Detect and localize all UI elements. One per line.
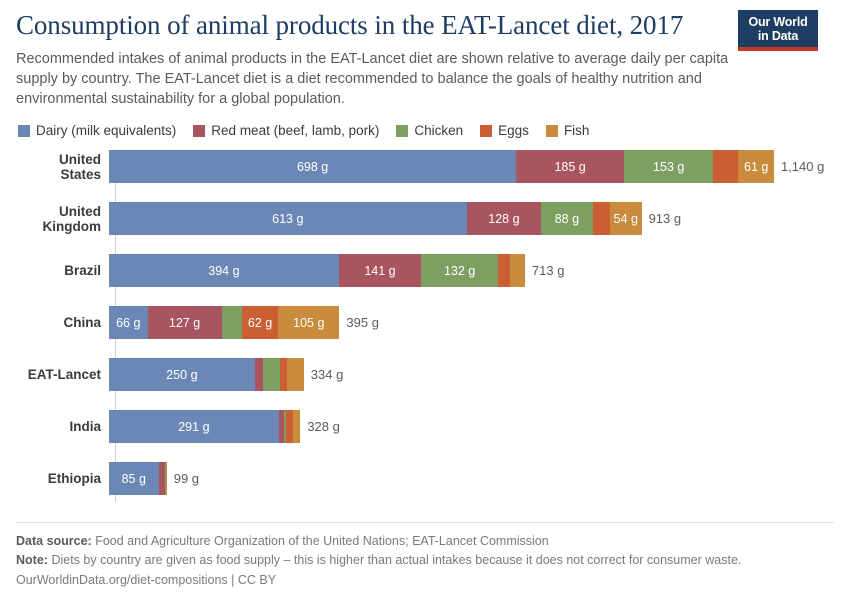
- bar-row: United Kingdom613 g128 g88 g54 g913 g: [16, 202, 834, 235]
- bar-total-value: 913 g: [649, 211, 682, 226]
- bar-segment[interactable]: 62 g: [242, 306, 278, 339]
- bar-segment[interactable]: [593, 202, 611, 235]
- category-label: United States: [16, 152, 109, 182]
- legend-swatch-icon: [193, 125, 205, 137]
- bar-segment[interactable]: 66 g: [109, 306, 148, 339]
- bar-total-value: 99 g: [174, 471, 199, 486]
- bar-segment-value: 141 g: [364, 264, 395, 278]
- bar-segment[interactable]: 394 g: [109, 254, 339, 287]
- bar-row: India291 g328 g: [16, 410, 834, 443]
- bar-row: EAT-Lancet250 g334 g: [16, 358, 834, 391]
- bar-segment[interactable]: 153 g: [624, 150, 713, 183]
- bar-segment[interactable]: 185 g: [516, 150, 624, 183]
- chart-subtitle: Recommended intakes of animal products i…: [16, 49, 834, 109]
- bar-segment[interactable]: 105 g: [278, 306, 339, 339]
- legend-label: Fish: [564, 123, 590, 138]
- category-label: United Kingdom: [16, 204, 109, 234]
- bar-segment[interactable]: 291 g: [109, 410, 279, 443]
- bar-segment[interactable]: 141 g: [339, 254, 421, 287]
- stacked-bar[interactable]: 698 g185 g153 g61 g: [109, 150, 774, 183]
- bar-row: Ethiopia85 g99 g: [16, 462, 834, 495]
- data-source-line: Data source: Food and Agriculture Organi…: [16, 532, 834, 551]
- bar-segment-value: 613 g: [272, 212, 303, 226]
- legend-item[interactable]: Red meat (beef, lamb, pork): [193, 123, 379, 138]
- bar-segment[interactable]: 132 g: [421, 254, 498, 287]
- legend-item[interactable]: Chicken: [396, 123, 463, 138]
- stacked-bar[interactable]: 250 g: [109, 358, 304, 391]
- category-label: Ethiopia: [16, 471, 109, 486]
- bar-segment-value: 66 g: [116, 316, 140, 330]
- bar-segment[interactable]: 54 g: [610, 202, 642, 235]
- bar-segment-value: 127 g: [169, 316, 200, 330]
- note-text: Diets by country are given as food suppl…: [51, 553, 741, 567]
- bar-segment[interactable]: 61 g: [738, 150, 774, 183]
- legend-swatch-icon: [396, 125, 408, 137]
- bar-segment[interactable]: 250 g: [109, 358, 255, 391]
- bar-segment-value: 62 g: [248, 316, 272, 330]
- bar-row: Brazil394 g141 g132 g713 g: [16, 254, 834, 287]
- bar-segment-value: 128 g: [488, 212, 519, 226]
- stacked-bar[interactable]: 613 g128 g88 g54 g: [109, 202, 642, 235]
- chart-plot-area: United States698 g185 g153 g61 g1,140 gU…: [16, 150, 834, 508]
- bar-segment[interactable]: [263, 358, 280, 391]
- legend-item[interactable]: Fish: [546, 123, 590, 138]
- bar-segment[interactable]: [222, 306, 242, 339]
- chart-page: Consumption of animal products in the EA…: [0, 0, 850, 600]
- legend-swatch-icon: [18, 125, 30, 137]
- legend-label: Red meat (beef, lamb, pork): [211, 123, 379, 138]
- stacked-bar[interactable]: 85 g: [109, 462, 167, 495]
- bar-segment[interactable]: 88 g: [541, 202, 592, 235]
- chart-legend: Dairy (milk equivalents)Red meat (beef, …: [16, 123, 834, 138]
- logo-line-2: in Data: [740, 29, 816, 47]
- bar-row: United States698 g185 g153 g61 g1,140 g: [16, 150, 834, 183]
- chart-footer: Data source: Food and Agriculture Organi…: [16, 522, 834, 590]
- bar-segment[interactable]: [293, 410, 301, 443]
- bar-segment[interactable]: [713, 150, 738, 183]
- bar-segment-value: 85 g: [122, 472, 146, 486]
- legend-swatch-icon: [546, 125, 558, 137]
- bar-rows: United States698 g185 g153 g61 g1,140 gU…: [16, 150, 834, 495]
- data-source-label: Data source:: [16, 534, 92, 548]
- bar-segment-value: 54 g: [614, 212, 638, 226]
- stacked-bar[interactable]: 394 g141 g132 g: [109, 254, 525, 287]
- stacked-bar[interactable]: 291 g: [109, 410, 300, 443]
- bar-segment[interactable]: [498, 254, 510, 287]
- category-label: China: [16, 315, 109, 330]
- bar-segment-value: 291 g: [178, 420, 209, 434]
- bar-segment[interactable]: [166, 462, 167, 495]
- bar-segment[interactable]: [255, 358, 263, 391]
- bar-total-value: 334 g: [311, 367, 344, 382]
- category-label: Brazil: [16, 263, 109, 278]
- our-world-in-data-logo[interactable]: Our World in Data: [738, 10, 818, 51]
- stacked-bar[interactable]: 66 g127 g62 g105 g: [109, 306, 339, 339]
- bar-total-value: 713 g: [532, 263, 565, 278]
- bar-total-value: 395 g: [346, 315, 379, 330]
- legend-label: Dairy (milk equivalents): [36, 123, 176, 138]
- logo-line-1: Our World: [740, 15, 816, 29]
- bar-total-value: 328 g: [307, 419, 340, 434]
- bar-segment-value: 185 g: [554, 160, 585, 174]
- bar-segment[interactable]: [280, 358, 288, 391]
- bar-segment-value: 394 g: [208, 264, 239, 278]
- bar-segment[interactable]: 613 g: [109, 202, 467, 235]
- bar-segment[interactable]: 698 g: [109, 150, 516, 183]
- bar-segment[interactable]: 128 g: [467, 202, 542, 235]
- bar-segment-value: 698 g: [297, 160, 328, 174]
- bar-segment-value: 61 g: [744, 160, 768, 174]
- bar-segment-value: 250 g: [166, 368, 197, 382]
- bar-segment[interactable]: [510, 254, 525, 287]
- category-label: India: [16, 419, 109, 434]
- bar-row: China66 g127 g62 g105 g395 g: [16, 306, 834, 339]
- bar-segment-value: 88 g: [555, 212, 579, 226]
- note-label: Note:: [16, 553, 48, 567]
- bar-total-value: 1,140 g: [781, 159, 824, 174]
- bar-segment[interactable]: 127 g: [148, 306, 222, 339]
- license-line[interactable]: OurWorldinData.org/diet-compositions | C…: [16, 571, 834, 590]
- legend-label: Eggs: [498, 123, 529, 138]
- chart-header: Consumption of animal products in the EA…: [16, 0, 834, 109]
- legend-swatch-icon: [480, 125, 492, 137]
- legend-item[interactable]: Eggs: [480, 123, 529, 138]
- category-label: EAT-Lancet: [16, 367, 109, 382]
- bar-segment-value: 153 g: [653, 160, 684, 174]
- page-title: Consumption of animal products in the EA…: [16, 10, 834, 41]
- bar-segment-value: 105 g: [293, 316, 324, 330]
- bar-segment[interactable]: 85 g: [109, 462, 159, 495]
- legend-item[interactable]: Dairy (milk equivalents): [18, 123, 176, 138]
- legend-label: Chicken: [414, 123, 463, 138]
- bar-segment-value: 132 g: [444, 264, 475, 278]
- data-source-text: Food and Agriculture Organization of the…: [95, 534, 548, 548]
- note-line: Note: Diets by country are given as food…: [16, 551, 834, 570]
- bar-segment[interactable]: [287, 358, 303, 391]
